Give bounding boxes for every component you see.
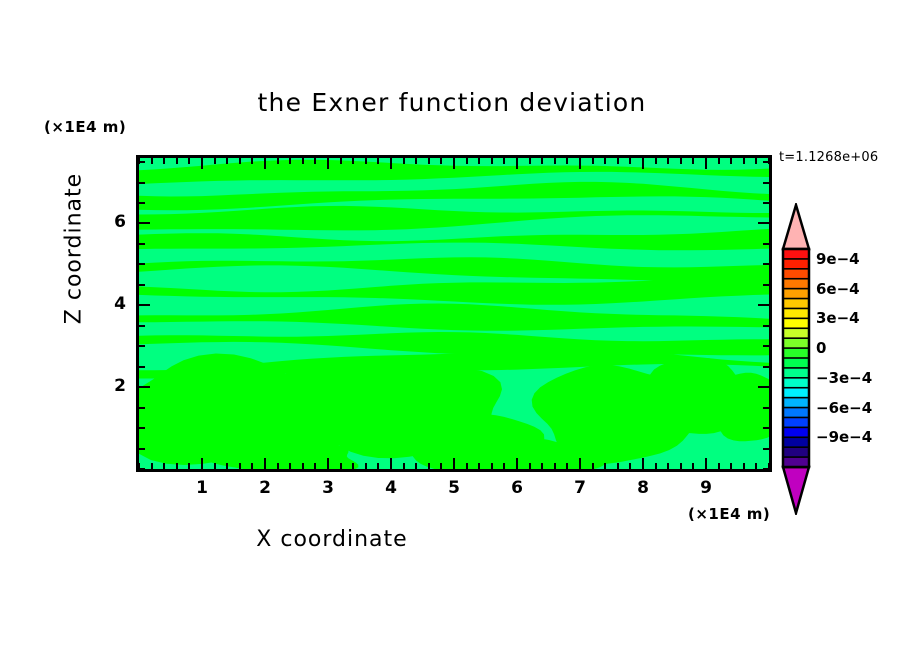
x-minor-tick — [491, 463, 493, 469]
x-minor-tick — [629, 463, 631, 469]
y-minor-tick-right — [763, 284, 769, 286]
y-major-tick-right — [758, 304, 769, 306]
x-minor-tick-top — [403, 158, 405, 164]
y-axis-title: Z coordinate — [62, 149, 87, 349]
x-major-tick — [516, 458, 518, 469]
x-minor-tick — [655, 463, 657, 469]
colorbar — [780, 203, 812, 515]
x-minor-tick-top — [277, 158, 279, 164]
x-minor-tick-top — [692, 158, 694, 164]
x-minor-tick-top — [176, 158, 178, 164]
x-minor-tick — [377, 463, 379, 469]
x-minor-tick — [214, 463, 216, 469]
x-tick-label: 9 — [694, 478, 718, 498]
x-tick-label: 2 — [253, 478, 277, 498]
colorbar-tick-label: −6e−4 — [816, 399, 872, 417]
y-minor-tick — [139, 202, 145, 204]
y-major-tick-right — [758, 222, 769, 224]
x-minor-tick-top — [541, 158, 543, 164]
x-minor-tick — [503, 463, 505, 469]
x-tick-label: 5 — [442, 478, 466, 498]
x-minor-tick-top — [428, 158, 430, 164]
y-minor-tick-right — [763, 182, 769, 184]
x-axis-title: X coordinate — [0, 527, 904, 552]
page-title: the Exner function deviation — [0, 88, 904, 117]
x-major-tick-top — [264, 158, 266, 169]
contour-plot-area — [136, 155, 772, 472]
x-minor-tick-top — [239, 158, 241, 164]
x-minor-tick-top — [251, 158, 253, 164]
y-major-tick — [139, 222, 150, 224]
x-minor-tick-top — [617, 158, 619, 164]
x-major-tick — [453, 458, 455, 469]
x-minor-tick — [718, 463, 720, 469]
y-minor-tick — [139, 182, 145, 184]
x-minor-tick-top — [314, 158, 316, 164]
colorbar-tick-label: −3e−4 — [816, 369, 872, 387]
x-minor-tick-top — [667, 158, 669, 164]
x-axis-unit-label: (×1E4 m) — [688, 505, 770, 523]
x-minor-tick — [352, 463, 354, 469]
timestamp-label: t=1.1268e+06 — [779, 150, 878, 165]
x-major-tick-top — [705, 158, 707, 169]
x-minor-tick — [428, 463, 430, 469]
x-minor-tick-top — [163, 158, 165, 164]
x-minor-tick-top — [503, 158, 505, 164]
x-minor-tick — [403, 463, 405, 469]
x-major-tick — [327, 458, 329, 469]
x-minor-tick-top — [478, 158, 480, 164]
x-minor-tick-top — [768, 158, 770, 164]
x-minor-tick — [277, 463, 279, 469]
x-minor-tick-top — [604, 158, 606, 164]
y-tick-label: 6 — [104, 212, 126, 232]
x-minor-tick-top — [718, 158, 720, 164]
x-major-tick-top — [201, 158, 203, 169]
y-tick-label: 4 — [104, 294, 126, 314]
y-minor-tick-right — [763, 345, 769, 347]
x-tick-label: 1 — [190, 478, 214, 498]
x-minor-tick-top — [730, 158, 732, 164]
colorbar-tick-label: 3e−4 — [816, 309, 860, 327]
x-minor-tick-top — [415, 158, 417, 164]
y-minor-tick-right — [763, 263, 769, 265]
x-minor-tick — [163, 463, 165, 469]
x-minor-tick-top — [151, 158, 153, 164]
x-major-tick — [390, 458, 392, 469]
y-minor-tick — [139, 366, 145, 368]
x-minor-tick — [604, 463, 606, 469]
x-tick-label: 8 — [631, 478, 655, 498]
x-minor-tick-top — [529, 158, 531, 164]
y-minor-tick — [139, 345, 145, 347]
y-minor-tick-right — [763, 243, 769, 245]
x-minor-tick-top — [377, 158, 379, 164]
x-minor-tick-top — [188, 158, 190, 164]
x-minor-tick-top — [340, 158, 342, 164]
x-minor-tick-top — [302, 158, 304, 164]
y-minor-tick — [139, 407, 145, 409]
x-major-tick-top — [579, 158, 581, 169]
x-minor-tick-top — [743, 158, 745, 164]
x-minor-tick — [188, 463, 190, 469]
y-axis-unit-label: (×1E4 m) — [44, 118, 126, 136]
x-minor-tick — [592, 463, 594, 469]
x-minor-tick — [340, 463, 342, 469]
x-minor-tick — [730, 463, 732, 469]
x-minor-tick-top — [226, 158, 228, 164]
x-minor-tick-top — [466, 158, 468, 164]
y-tick-label: 2 — [104, 376, 126, 396]
y-minor-tick-right — [763, 202, 769, 204]
x-minor-tick-top — [554, 158, 556, 164]
x-major-tick-top — [453, 158, 455, 169]
y-minor-tick — [139, 468, 145, 470]
x-minor-tick-top — [491, 158, 493, 164]
colorbar-swatches — [780, 203, 812, 515]
x-minor-tick-top — [289, 158, 291, 164]
y-minor-tick-right — [763, 468, 769, 470]
x-minor-tick — [415, 463, 417, 469]
x-minor-tick-top — [440, 158, 442, 164]
x-minor-tick — [680, 463, 682, 469]
x-minor-tick — [617, 463, 619, 469]
x-minor-tick — [239, 463, 241, 469]
y-minor-tick — [139, 243, 145, 245]
x-tick-label: 7 — [568, 478, 592, 498]
x-minor-tick-top — [365, 158, 367, 164]
x-minor-tick-top — [214, 158, 216, 164]
x-minor-tick-top — [755, 158, 757, 164]
x-minor-tick — [365, 463, 367, 469]
x-minor-tick — [466, 463, 468, 469]
x-minor-tick — [251, 463, 253, 469]
x-minor-tick-top — [655, 158, 657, 164]
x-major-tick — [642, 458, 644, 469]
x-major-tick — [201, 458, 203, 469]
x-minor-tick-top — [566, 158, 568, 164]
y-minor-tick-right — [763, 427, 769, 429]
y-major-tick — [139, 386, 150, 388]
y-minor-tick-right — [763, 366, 769, 368]
y-minor-tick-right — [763, 448, 769, 450]
colorbar-tick-label: 0 — [816, 339, 826, 357]
x-minor-tick-top — [138, 158, 140, 164]
x-minor-tick — [554, 463, 556, 469]
x-major-tick — [579, 458, 581, 469]
colorbar-tick-label: 9e−4 — [816, 250, 860, 268]
x-minor-tick — [755, 463, 757, 469]
y-minor-tick — [139, 284, 145, 286]
x-minor-tick — [529, 463, 531, 469]
x-major-tick — [264, 458, 266, 469]
x-minor-tick — [314, 463, 316, 469]
x-minor-tick — [176, 463, 178, 469]
x-minor-tick-top — [352, 158, 354, 164]
contour-field — [139, 158, 769, 469]
y-minor-tick-right — [763, 325, 769, 327]
x-minor-tick-top — [629, 158, 631, 164]
x-minor-tick — [440, 463, 442, 469]
x-minor-tick — [566, 463, 568, 469]
x-minor-tick-top — [592, 158, 594, 164]
colorbar-tick-label: −9e−4 — [816, 428, 872, 446]
colorbar-tick-label: 6e−4 — [816, 280, 860, 298]
x-minor-tick — [151, 463, 153, 469]
x-minor-tick — [692, 463, 694, 469]
x-minor-tick — [743, 463, 745, 469]
y-minor-tick — [139, 325, 145, 327]
y-major-tick-right — [758, 386, 769, 388]
x-minor-tick — [302, 463, 304, 469]
x-minor-tick — [289, 463, 291, 469]
x-major-tick-top — [390, 158, 392, 169]
y-major-tick — [139, 304, 150, 306]
x-tick-label: 4 — [379, 478, 403, 498]
x-major-tick-top — [516, 158, 518, 169]
y-minor-tick — [139, 448, 145, 450]
x-minor-tick — [667, 463, 669, 469]
x-major-tick — [705, 458, 707, 469]
y-minor-tick-right — [763, 407, 769, 409]
x-minor-tick — [478, 463, 480, 469]
y-minor-tick — [139, 427, 145, 429]
x-tick-label: 6 — [505, 478, 529, 498]
y-minor-tick — [139, 263, 145, 265]
x-minor-tick — [226, 463, 228, 469]
x-major-tick-top — [642, 158, 644, 169]
x-minor-tick-top — [680, 158, 682, 164]
x-major-tick-top — [327, 158, 329, 169]
x-minor-tick — [541, 463, 543, 469]
x-tick-label: 3 — [316, 478, 340, 498]
